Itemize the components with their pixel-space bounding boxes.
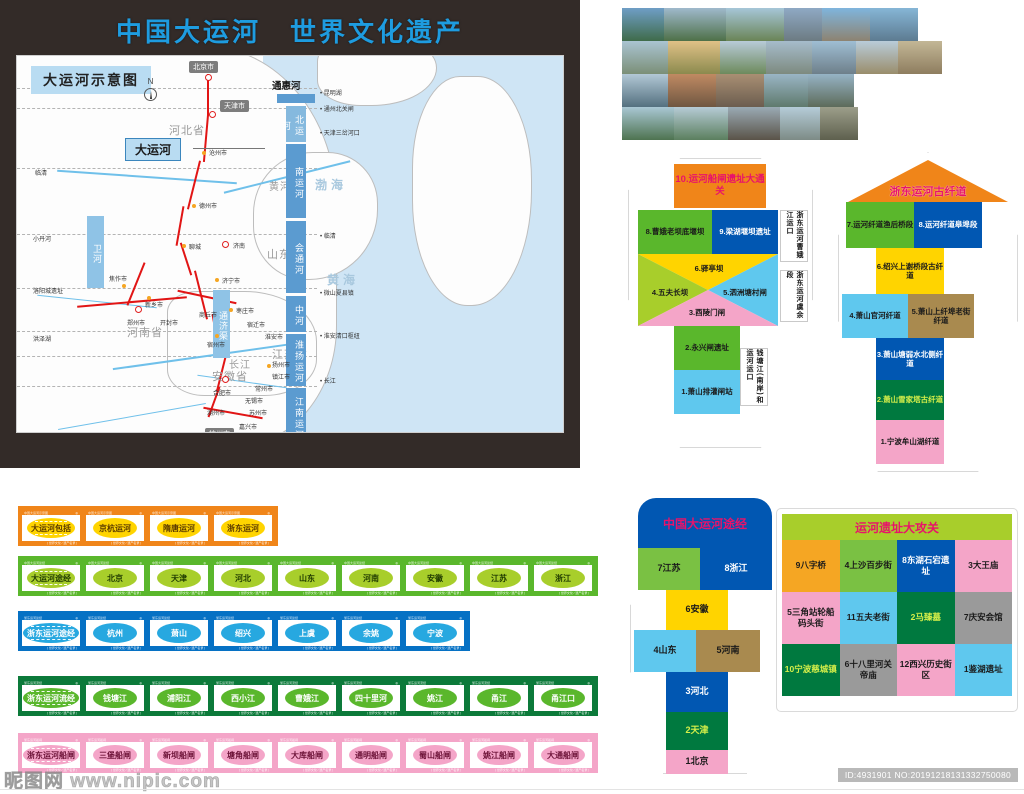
card-chip-body: 大通船闸 — [534, 742, 592, 768]
card-chip-label: 上虞 — [285, 623, 329, 643]
card-chip-badge-icon: ◍ — [395, 738, 398, 742]
card-chip-footer: [ 世界文化 / 遗产名录 ] — [406, 768, 464, 773]
cross-cell-4[interactable]: 4.五夫长坝 — [640, 284, 700, 302]
card-chip-label: 浙东运河船闸 — [23, 745, 79, 765]
map-city-label: 天津市 — [220, 100, 249, 112]
provinces-title: 中国大运河途经 — [638, 498, 772, 548]
card-chip-badge-icon: ◍ — [587, 561, 590, 565]
card-chip-footer: [ 世界文化 / 遗产名录 ] — [214, 768, 272, 773]
card-chip-badge-icon: ◍ — [139, 616, 142, 620]
card-chip-label: 浙东运河途经 — [23, 623, 79, 643]
compass-icon: N — [144, 78, 157, 101]
card-chip-footer: [ 世界文化 / 遗产名录 ] — [214, 711, 272, 716]
card-chip-caption: 中国大运河途经 — [216, 561, 237, 565]
footer-divider — [0, 789, 1024, 790]
map-city-marker — [122, 284, 126, 288]
card-chip[interactable]: 浙东运河途经◍余姚[ 世界文化 / 遗产名录 ] — [340, 613, 402, 651]
card-header-chip[interactable]: 浙东运河流经◍浙东运河流经[ 世界文化 / 遗产名录 ] — [20, 678, 82, 716]
card-chip[interactable]: 浙东运河流经◍西小江[ 世界文化 / 遗产名录 ] — [212, 678, 274, 716]
collage-photo — [716, 74, 764, 107]
sites-table-cell[interactable]: 4上沙百步街 — [840, 540, 898, 592]
map-city-label: 沧州市 — [209, 148, 227, 157]
card-chip[interactable]: 浙东运河船闸◍姚江船闸[ 世界文化 / 遗产名录 ] — [468, 735, 530, 773]
card-chip[interactable]: 中国大运河途经◍安徽[ 世界文化 / 遗产名录 ] — [404, 558, 466, 596]
map-tick-label: 淮安清口枢纽 — [320, 331, 360, 340]
card-chip-badge-icon: ◍ — [267, 738, 270, 742]
card-chip-label: 杭州 — [93, 623, 137, 643]
map-city-label: 北京市 — [189, 61, 218, 73]
card-chip-label: 江苏 — [477, 568, 521, 588]
card-chip[interactable]: 浙东运河船闸◍大通船闸[ 世界文化 / 遗产名录 ] — [532, 735, 594, 773]
cross-side-label-qiantangjiang: 钱塘江(南岸)和运河运口 — [740, 348, 768, 406]
cross-side-label-caoejiang: 浙东运河曹娥江运口 — [780, 210, 808, 262]
card-chip[interactable]: 浙东运河途经◍杭州[ 世界文化 / 遗产名录 ] — [84, 613, 146, 651]
card-chip-body: 余姚 — [342, 620, 400, 646]
card-chip[interactable]: 浙东运河途经◍上虞[ 世界文化 / 遗产名录 ] — [276, 613, 338, 651]
card-chip-body: 河南 — [342, 565, 400, 591]
collage-photo — [726, 8, 784, 41]
map-city-label: 德州市 — [199, 201, 217, 210]
map-city-label: 济宁市 — [222, 276, 240, 285]
house-cell-7[interactable]: 7.运河纤道渔后桥段 — [846, 202, 914, 248]
card-chip-label: 河北 — [221, 568, 265, 588]
house-cell-1[interactable]: 1.宁波牟山湖纤道 — [876, 420, 944, 464]
map-city-label: 小丹河 — [33, 234, 51, 243]
sites-table-cell[interactable]: 6十八里河关帝庙 — [840, 644, 898, 696]
card-header-chip[interactable]: 浙东运河途经◍浙东运河途经[ 世界文化 / 遗产名录 ] — [20, 613, 82, 651]
map-canal-section-label: 通惠河 — [272, 78, 301, 92]
card-chip-body: 蜀山船闸 — [406, 742, 464, 768]
card-chip-label: 大通船闸 — [541, 745, 585, 765]
card-chip-footer: [ 世界文化 / 遗产名录 ] — [22, 646, 80, 651]
provinces-route-diagram[interactable]: 中国大运河途经 7江苏 8浙江 6安徽 4山东 5河南 3河北 2天津 1北京 — [630, 492, 780, 774]
card-chip-footer: [ 世界文化 / 遗产名录 ] — [342, 768, 400, 773]
card-chip-body: 浦阳江 — [150, 685, 208, 711]
collage-photo — [870, 8, 918, 41]
card-chip-footer: [ 世界文化 / 遗产名录 ] — [470, 591, 528, 596]
card-chip-body: 姚江 — [406, 685, 464, 711]
card-chip-label: 绍兴 — [221, 623, 265, 643]
card-chip-caption: 浙东运河途经 — [280, 616, 298, 620]
card-chip-badge-icon: ◍ — [203, 681, 206, 685]
map-canal-callout: 大运河 — [125, 138, 181, 161]
card-chip-caption: 中国大运河示意图 — [88, 511, 112, 515]
card-chip-label: 曹娥江 — [285, 688, 329, 708]
card-chip-body: 杭州 — [86, 620, 144, 646]
canal-map[interactable]: 大运河示意图 N 大运河 河北省 山东省 河南省 安徽省 江苏省 浙江省 渤海 … — [16, 55, 564, 433]
collage-photo — [622, 107, 674, 140]
card-chip-label: 姚江 — [413, 688, 457, 708]
card-chip-body: 河北 — [214, 565, 272, 591]
card-chip-footer: [ 世界文化 / 遗产名录 ] — [470, 768, 528, 773]
map-tick-label: 临清 — [320, 231, 336, 240]
card-chip-body: 姚江船闸 — [470, 742, 528, 768]
house-cell-2[interactable]: 2.萧山雪家塔古纤道 — [876, 380, 944, 420]
card-chip-body: 通明船闸 — [342, 742, 400, 768]
card-chip-badge-icon: ◍ — [523, 561, 526, 565]
card-chip-caption: 中国大运河示意图 — [152, 511, 176, 515]
map-legend-title: 大运河示意图 — [31, 66, 151, 94]
card-chip-footer: [ 世界文化 / 遗产名录 ] — [406, 646, 464, 651]
card-chip-footer: [ 世界文化 / 遗产名录 ] — [342, 646, 400, 651]
sites-table-cell[interactable]: 9八字桥 — [782, 540, 840, 592]
map-city-label: 临清 — [35, 168, 47, 177]
card-header-chip[interactable]: 中国大运河途经◍大运河途经[ 世界文化 / 遗产名录 ] — [20, 558, 82, 596]
card-chip-footer: [ 世界文化 / 遗产名录 ] — [86, 591, 144, 596]
card-chip-caption: 中国大运河途经 — [536, 561, 557, 565]
card-chip-badge-icon: ◍ — [459, 561, 462, 565]
cross-cell-6[interactable]: 6.驿亭坝 — [674, 260, 744, 278]
card-chip-badge-icon: ◍ — [139, 511, 142, 515]
province-cell-6[interactable]: 6安徽 — [666, 590, 728, 630]
card-chip[interactable]: 浙东运河途经◍宁波[ 世界文化 / 遗产名录 ] — [404, 613, 466, 651]
card-chip-badge-icon: ◍ — [587, 681, 590, 685]
card-chip[interactable]: 中国大运河途经◍北京[ 世界文化 / 遗产名录 ] — [84, 558, 146, 596]
card-chip-caption: 浙东运河船闸 — [280, 738, 298, 742]
card-chip-footer: [ 世界文化 / 遗产名录 ] — [86, 646, 144, 651]
card-chip-caption: 中国大运河途经 — [152, 561, 173, 565]
map-guideline — [17, 234, 317, 235]
province-cell-5[interactable]: 5河南 — [696, 630, 760, 672]
card-chip-badge-icon: ◍ — [395, 616, 398, 620]
card-chip[interactable]: 浙东运河船闸◍蜀山船闸[ 世界文化 / 遗产名录 ] — [404, 735, 466, 773]
card-chip[interactable]: 浙东运河流经◍姚江[ 世界文化 / 遗产名录 ] — [404, 678, 466, 716]
card-chip-footer: [ 世界文化 / 遗产名录 ] — [150, 711, 208, 716]
card-chip-caption: 浙东运河船闸 — [152, 738, 170, 742]
card-chip-badge-icon: ◍ — [331, 681, 334, 685]
card-header-chip[interactable]: 中国大运河示意图◍大运河包括[ 世界文化 / 遗产名录 ] — [20, 508, 82, 546]
card-chip-footer: [ 世界文化 / 遗产名录 ] — [214, 541, 272, 546]
card-chip-badge-icon: ◍ — [267, 681, 270, 685]
map-city-label: 新乡市 — [145, 300, 163, 309]
card-chip-caption: 浙东运河船闸 — [88, 738, 106, 742]
card-chip[interactable]: 中国大运河途经◍河南[ 世界文化 / 遗产名录 ] — [340, 558, 402, 596]
map-canal-section-zhonghe: 中河 — [286, 296, 306, 332]
card-chip[interactable]: 浙东运河流经◍甬江[ 世界文化 / 遗产名录 ] — [468, 678, 530, 716]
card-chip-badge-icon: ◍ — [75, 616, 78, 620]
card-chip-label: 萧山 — [157, 623, 201, 643]
card-chip-caption: 中国大运河途经 — [24, 561, 45, 565]
house-cell-4[interactable]: 4.萧山官河纤道 — [842, 294, 908, 338]
house-cell-5[interactable]: 5.萧山上纤埠老街纤道 — [908, 294, 974, 338]
card-chip-footer: [ 世界文化 / 遗产名录 ] — [150, 541, 208, 546]
card-chip-footer: [ 世界文化 / 遗产名录 ] — [470, 711, 528, 716]
card-chip-caption: 浙东运河途经 — [216, 616, 234, 620]
cross-cell-5[interactable]: 5.泗洲塘村闸 — [714, 284, 776, 302]
collage-photo — [784, 8, 822, 41]
card-chip-body: 浙东运河 — [214, 515, 272, 541]
card-chip-caption: 浙东运河流经 — [88, 681, 106, 685]
map-tick-label: 长江 — [320, 376, 336, 385]
collage-photo — [664, 8, 726, 41]
card-chip-label: 甬江口 — [541, 688, 585, 708]
collage-photo — [720, 41, 766, 74]
card-chip[interactable]: 浙东运河流经◍曹娥江[ 世界文化 / 遗产名录 ] — [276, 678, 338, 716]
card-chip-caption: 浙东运河船闸 — [536, 738, 554, 742]
card-chip[interactable]: 浙东运河船闸◍大库船闸[ 世界文化 / 遗产名录 ] — [276, 735, 338, 773]
ancient-towpath-diagram[interactable]: 浙东运河古纤道 7.运河纤道渔后桥段 8.运河纤道皋埠段 6.绍兴上谢桥段古纤道… — [838, 152, 1018, 472]
card-chip[interactable]: 中国大运河示意图◍京杭运河[ 世界文化 / 遗产名录 ] — [84, 508, 146, 546]
card-chip-body: 浙东运河途经 — [22, 620, 80, 646]
house-cell-3[interactable]: 3.萧山塘弱水北侧纤道 — [876, 338, 944, 380]
card-chip-body: 山东 — [278, 565, 336, 591]
card-chip-badge-icon: ◍ — [395, 561, 398, 565]
card-chip-label: 大库船闸 — [285, 745, 329, 765]
card-chip-badge-icon: ◍ — [139, 561, 142, 565]
card-chip-body: 甬江口 — [534, 685, 592, 711]
card-chip-caption: 中国大运河途经 — [344, 561, 365, 565]
map-city-marker — [182, 244, 186, 248]
card-chip-badge-icon: ◍ — [203, 511, 206, 515]
collage-photo — [820, 107, 858, 140]
card-chip-body: 萧山 — [150, 620, 208, 646]
card-chip-caption: 浙东运河船闸 — [408, 738, 426, 742]
card-chip-body: 大运河包括 — [22, 515, 80, 541]
card-chip-footer: [ 世界文化 / 遗产名录 ] — [278, 711, 336, 716]
card-chip-label: 山东 — [285, 568, 329, 588]
collage-row — [622, 8, 918, 41]
cross-title: 10.运河船闸遗址大通关 — [674, 164, 766, 208]
card-chip-footer: [ 世界文化 / 遗产名录 ] — [22, 541, 80, 546]
card-chip-caption: 浙东运河流经 — [24, 681, 42, 685]
collage-photo — [674, 107, 728, 140]
map-city-label: 开封市 — [160, 318, 178, 327]
card-chip-label: 蜀山船闸 — [413, 745, 457, 765]
card-chip-label: 安徽 — [413, 568, 457, 588]
map-guideline — [17, 108, 317, 109]
map-city-label: 焦作市 — [109, 274, 127, 283]
map-city-label: 枣庄市 — [236, 306, 254, 315]
card-chip-label: 天津 — [157, 568, 201, 588]
card-chip-badge-icon: ◍ — [75, 738, 78, 742]
card-chip-body: 宁波 — [406, 620, 464, 646]
card-chip[interactable]: 中国大运河途经◍浙江[ 世界文化 / 遗产名录 ] — [532, 558, 594, 596]
map-city-marker — [202, 151, 206, 155]
map-city-label: 常州市 — [255, 384, 273, 393]
cross-cell-9[interactable]: 9.梁湖堰坝遗址 — [712, 210, 778, 254]
card-chip-body: 京杭运河 — [86, 515, 144, 541]
map-canal-section-beiyunhe: 北运河 — [286, 106, 306, 142]
card-chip-label: 甬江 — [477, 688, 521, 708]
map-side-canal-weihe: 卫河 — [87, 216, 104, 288]
card-chip[interactable]: 浙东运河船闸◍通明船闸[ 世界文化 / 遗产名录 ] — [340, 735, 402, 773]
card-chip-caption: 浙东运河流经 — [408, 681, 426, 685]
card-chip-badge-icon: ◍ — [459, 616, 462, 620]
province-cell-4[interactable]: 4山东 — [634, 630, 696, 672]
card-chip-footer: [ 世界文化 / 遗产名录 ] — [278, 646, 336, 651]
card-chip-body: 钱塘江 — [86, 685, 144, 711]
image-id-badge: ID:4931901 NO:20191218131332750080 — [838, 768, 1018, 782]
card-chip-footer: [ 世界文化 / 遗产名录 ] — [342, 591, 400, 596]
card-chip-footer: [ 世界文化 / 遗产名录 ] — [278, 591, 336, 596]
canal-locks-diagram[interactable]: 10.运河船闸遗址大通关 8.曹娥老坝底堰坝 9.梁湖堰坝遗址 6.驿亭坝 4.… — [628, 158, 813, 448]
sites-table-cell[interactable]: 3大王庙 — [955, 540, 1013, 592]
collage-photo — [764, 74, 808, 107]
map-city-label: 嘉兴市 — [239, 422, 257, 431]
card-chip[interactable]: 中国大运河途经◍天津[ 世界文化 / 遗产名录 ] — [148, 558, 210, 596]
cross-cell-8[interactable]: 8.曹娥老坝底堰坝 — [638, 210, 712, 254]
card-chip-label: 宁波 — [413, 623, 457, 643]
card-chip-label: 大运河包括 — [27, 518, 75, 538]
card-chip-label: 通明船闸 — [349, 745, 393, 765]
province-cell-7[interactable]: 7江苏 — [638, 548, 700, 590]
map-province-label: 河北省 — [169, 122, 205, 138]
map-canal-section-nanyunhe: 南运河 — [286, 144, 306, 218]
sites-table-cell[interactable]: 5三角站轮船码头街 — [782, 592, 840, 644]
card-chip-footer: [ 世界文化 / 遗产名录 ] — [406, 591, 464, 596]
card-chip[interactable]: 中国大运河示意图◍隋唐运河[ 世界文化 / 遗产名录 ] — [148, 508, 210, 546]
cross-side-label-yuyu: 浙东运河虞余段 — [780, 270, 808, 322]
sites-table-cell[interactable]: 11五夫老街 — [840, 592, 898, 644]
card-chip-body: 隋唐运河 — [150, 515, 208, 541]
card-chip-label: 余姚 — [349, 623, 393, 643]
collage-photo — [622, 8, 664, 41]
collage-row — [622, 107, 858, 140]
card-chip-label: 北京 — [93, 568, 137, 588]
card-chip[interactable]: 浙东运河流经◍钱塘江[ 世界文化 / 遗产名录 ] — [84, 678, 146, 716]
card-chip-badge-icon: ◍ — [139, 681, 142, 685]
card-row-2: 中国大运河途经◍大运河途经[ 世界文化 / 遗产名录 ]中国大运河途经◍北京[ … — [18, 556, 598, 596]
card-chip-body: 西小江 — [214, 685, 272, 711]
map-city-label: 聊城 — [189, 242, 201, 251]
card-chip-body: 甬江 — [470, 685, 528, 711]
card-chip-footer: [ 世界文化 / 遗产名录 ] — [86, 541, 144, 546]
card-chip[interactable]: 浙东运河船闸◍塘角船闸[ 世界文化 / 遗产名录 ] — [212, 735, 274, 773]
map-sea-label: 渤海 — [315, 176, 347, 193]
cross-x-block: 6.驿亭坝 4.五夫长坝 5.泗洲塘村闸 3.酉陵门闸 — [638, 254, 778, 326]
map-city-label: 苏州市 — [249, 408, 267, 417]
map-city-label: 济南 — [233, 241, 245, 250]
card-chip-body: 浙东运河船闸 — [22, 742, 80, 768]
house-cell-8[interactable]: 8.运河纤道皋埠段 — [914, 202, 982, 248]
card-chip-caption: 浙东运河流经 — [344, 681, 362, 685]
card-chip[interactable]: 中国大运河示意图◍浙东运河[ 世界文化 / 遗产名录 ] — [212, 508, 274, 546]
map-river-label-yangtze: 长江 — [229, 356, 251, 371]
card-chip-body: 江苏 — [470, 565, 528, 591]
map-city-label: 湖州市 — [207, 408, 225, 417]
card-chip-badge-icon: ◍ — [523, 738, 526, 742]
sites-table-cell[interactable]: 1鉴湖遗址 — [955, 644, 1013, 696]
card-chip-footer: [ 世界文化 / 遗产名录 ] — [86, 711, 144, 716]
card-chip-body: 天津 — [150, 565, 208, 591]
card-chip-label: 大运河途经 — [27, 568, 75, 588]
card-chip-badge-icon: ◍ — [75, 511, 78, 515]
card-chip-footer: [ 世界文化 / 遗产名录 ] — [214, 591, 272, 596]
card-chip-badge-icon: ◍ — [331, 561, 334, 565]
card-chip-body: 浙江 — [534, 565, 592, 591]
card-chip-body: 四十里河 — [342, 685, 400, 711]
card-chip[interactable]: 浙东运河途经◍绍兴[ 世界文化 / 遗产名录 ] — [212, 613, 274, 651]
card-chip-label: 新坝船闸 — [157, 745, 201, 765]
card-chip-badge-icon: ◍ — [203, 616, 206, 620]
card-chip-body: 曹娥江 — [278, 685, 336, 711]
card-chip-badge-icon: ◍ — [331, 738, 334, 742]
card-chip-label: 河南 — [349, 568, 393, 588]
card-chip-body: 上虞 — [278, 620, 336, 646]
collage-photo — [668, 41, 720, 74]
card-chip-label: 京杭运河 — [93, 518, 137, 538]
card-chip[interactable]: 浙东运河流经◍浦阳江[ 世界文化 / 遗产名录 ] — [148, 678, 210, 716]
card-chip[interactable]: 浙东运河途经◍萧山[ 世界文化 / 遗产名录 ] — [148, 613, 210, 651]
card-chip-body: 大库船闸 — [278, 742, 336, 768]
province-cell-3[interactable]: 3河北 — [666, 672, 728, 712]
card-row-1: 中国大运河示意图◍大运河包括[ 世界文化 / 遗产名录 ]中国大运河示意图◍京杭… — [18, 506, 278, 546]
map-city-label: 无锡市 — [245, 396, 263, 405]
collage-photo — [780, 107, 820, 140]
card-chip-caption: 浙东运河途经 — [344, 616, 362, 620]
card-chip-caption: 浙东运河途经 — [152, 616, 170, 620]
card-chip-caption: 中国大运河途经 — [88, 561, 109, 565]
card-chip[interactable]: 中国大运河途经◍山东[ 世界文化 / 遗产名录 ] — [276, 558, 338, 596]
card-chip-badge-icon: ◍ — [267, 561, 270, 565]
province-cell-1[interactable]: 1北京 — [666, 750, 728, 774]
card-chip-footer: [ 世界文化 / 遗产名录 ] — [342, 711, 400, 716]
card-chip-label: 隋唐运河 — [157, 518, 201, 538]
card-chip-badge-icon: ◍ — [395, 681, 398, 685]
card-chip[interactable]: 浙东运河流经◍四十里河[ 世界文化 / 遗产名录 ] — [340, 678, 402, 716]
card-chip[interactable]: 浙东运河流经◍甬江口[ 世界文化 / 遗产名录 ] — [532, 678, 594, 716]
map-tick-label: 通州北关闸 — [320, 104, 354, 113]
map-canal-section-jiangnan: 江南运河 — [286, 388, 306, 433]
sites-table-cell[interactable]: 7庆安会馆 — [955, 592, 1013, 644]
collage-photo — [766, 41, 812, 74]
sites-table-cell[interactable]: 2马臻墓 — [897, 592, 955, 644]
canal-sites-table[interactable]: 运河遗址大攻关 9八字桥4上沙百步街8东湖石宕遗址3大王庙5三角站轮船码头街11… — [776, 508, 1018, 712]
card-chip-label: 三堡船闸 — [93, 745, 137, 765]
card-chip-badge-icon: ◍ — [459, 738, 462, 742]
map-sea-label: 黄海 — [327, 271, 359, 288]
map-tick-label: 昆明湖 — [320, 88, 342, 97]
map-tick-label: 天津三岔河口 — [320, 128, 360, 137]
card-chip-caption: 中国大运河途经 — [408, 561, 429, 565]
card-chip-caption: 浙东运河流经 — [280, 681, 298, 685]
sites-table-cell[interactable]: 12西兴历史街区 — [897, 644, 955, 696]
map-guideline — [17, 168, 317, 169]
card-chip-badge-icon: ◍ — [139, 738, 142, 742]
card-chip[interactable]: 中国大运河途经◍江苏[ 世界文化 / 遗产名录 ] — [468, 558, 530, 596]
map-city-label: 郑州市 — [127, 318, 145, 327]
cross-cell-2[interactable]: 2.永兴闸遗址 — [674, 326, 740, 370]
sites-table-cell[interactable]: 10宁波慈城镇 — [782, 644, 840, 696]
map-land-korea — [412, 76, 532, 306]
card-chip-footer: [ 世界文化 / 遗产名录 ] — [278, 768, 336, 773]
cross-cell-3[interactable]: 3.酉陵门闸 — [672, 304, 742, 322]
house-cell-6[interactable]: 6.绍兴上谢桥段古纤道 — [876, 248, 944, 294]
card-chip-badge-icon: ◍ — [267, 511, 270, 515]
card-chip-caption: 浙东运河途经 — [88, 616, 106, 620]
card-chip-footer: [ 世界文化 / 遗产名录 ] — [22, 711, 80, 716]
card-chip-badge-icon: ◍ — [459, 681, 462, 685]
card-chip-footer: [ 世界文化 / 遗产名录 ] — [22, 591, 80, 596]
card-chip-caption: 浙东运河途经 — [408, 616, 426, 620]
cross-cell-1[interactable]: 1.萧山排灌闸站 — [674, 370, 740, 414]
map-city-marker — [215, 278, 219, 282]
card-chip-body: 绍兴 — [214, 620, 272, 646]
map-city-marker — [222, 376, 229, 383]
card-chip-caption: 浙东运河流经 — [536, 681, 554, 685]
map-city-marker — [222, 241, 229, 248]
map-city-label: 洛阳城遗址 — [33, 286, 63, 295]
sites-table-grid: 9八字桥4上沙百步街8东湖石宕遗址3大王庙5三角站轮船码头街11五夫老街2马臻墓… — [782, 540, 1012, 696]
collage-photo — [856, 41, 898, 74]
card-chip[interactable]: 中国大运河途经◍河北[ 世界文化 / 遗产名录 ] — [212, 558, 274, 596]
province-cell-8[interactable]: 8浙江 — [700, 548, 772, 590]
card-chip-footer: [ 世界文化 / 遗产名录 ] — [534, 768, 592, 773]
card-chip-footer: [ 世界文化 / 遗产名录 ] — [406, 711, 464, 716]
province-cell-2[interactable]: 2天津 — [666, 712, 728, 750]
sites-table-cell[interactable]: 8东湖石宕遗址 — [897, 540, 955, 592]
card-chip-footer: [ 世界文化 / 遗产名录 ] — [214, 646, 272, 651]
